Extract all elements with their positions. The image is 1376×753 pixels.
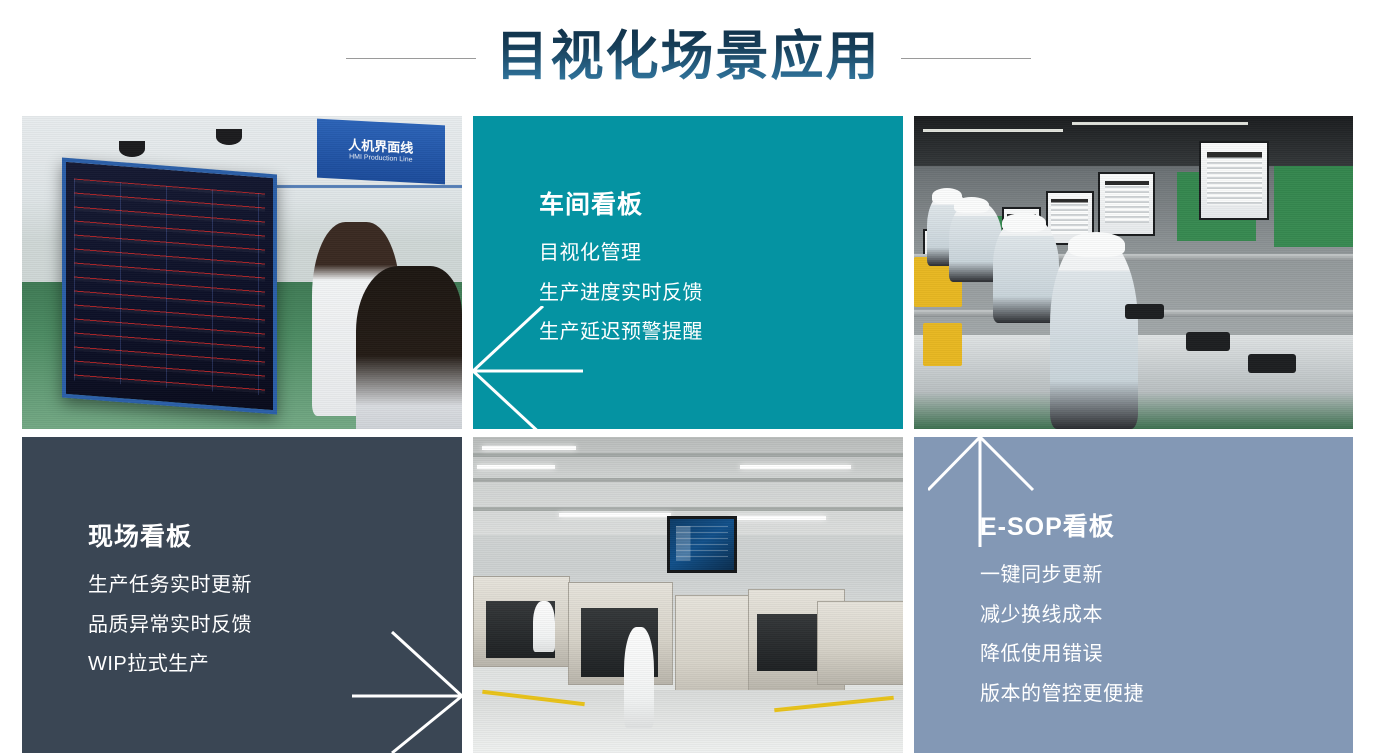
esop-monitor: [1098, 172, 1155, 235]
panel-esop-kanban-line: 降低使用错误: [980, 635, 1144, 675]
panel-site-kanban-heading: 现场看板: [88, 522, 252, 552]
panel-workshop-kanban-line: 目视化管理: [539, 234, 703, 274]
light-tube: [482, 446, 577, 450]
clean-room-operator: [533, 601, 555, 652]
scenario-grid: 人机界面线 HMI Production Line 车间看板 目视化管理 生产进…: [22, 116, 1353, 753]
panel-workshop-kanban-heading: 车间看板: [539, 190, 703, 220]
smt-factory-floor-photo: [473, 437, 903, 753]
operator-observing: [356, 266, 462, 429]
page-header: 目视化场景应用: [0, 0, 1376, 116]
panel-site-kanban: 现场看板 生产任务实时更新 品质异常实时反馈 WIP拉式生产: [22, 437, 462, 753]
hmi-line-banner-en: HMI Production Line: [349, 154, 412, 166]
overhead-rail: [268, 185, 462, 188]
photo-card-smt-floor: [473, 437, 903, 753]
line-worker: [1050, 235, 1138, 429]
product-tray: [1125, 304, 1165, 320]
panel-esop-kanban-line: 减少换线成本: [980, 596, 1144, 636]
factory-dashboard-photo: 人机界面线 HMI Production Line: [22, 116, 462, 429]
panel-site-kanban-line: 生产任务实时更新: [88, 566, 252, 606]
worker-cap: [1068, 232, 1125, 257]
ceiling-beam: [473, 507, 903, 511]
worker-cap: [1002, 213, 1046, 232]
esop-assembly-line-photo: [914, 116, 1353, 429]
panel-workshop-kanban-line: 生产进度实时反馈: [539, 274, 703, 314]
product-tray: [1186, 332, 1230, 351]
panel-workshop-kanban-line: 生产延迟预警提醒: [539, 313, 703, 353]
arrow-right-icon: [342, 622, 462, 753]
panel-workshop-kanban: 车间看板 目视化管理 生产进度实时反馈 生产延迟预警提醒: [473, 116, 903, 429]
parts-bin: [923, 323, 963, 367]
esop-monitor: [1199, 141, 1269, 220]
title-rule-right-icon: [901, 58, 1031, 59]
light-tube: [559, 513, 671, 517]
panel-esop-kanban-body: E-SOP看板 一键同步更新 减少换线成本 降低使用错误 版本的管控更便捷: [980, 512, 1144, 714]
panel-esop-kanban-heading: E-SOP看板: [980, 512, 1144, 542]
clean-room-operator: [624, 627, 654, 728]
hmi-line-banner: 人机界面线 HMI Production Line: [317, 119, 445, 185]
panel-site-kanban-line: WIP拉式生产: [88, 645, 252, 685]
page-title: 目视化场景应用: [494, 24, 883, 93]
photo-card-workshop-dashboard: 人机界面线 HMI Production Line: [22, 116, 462, 429]
ceiling-beam: [473, 453, 903, 457]
line-worker: [993, 216, 1059, 322]
ceiling-beam: [473, 478, 903, 482]
panel-esop-kanban: E-SOP看板 一键同步更新 减少换线成本 降低使用错误 版本的管控更便捷: [914, 437, 1353, 753]
panel-site-kanban-body: 现场看板 生产任务实时更新 品质异常实时反馈 WIP拉式生产: [88, 522, 252, 685]
smt-machine-body: [757, 614, 826, 671]
green-divider-panel: [1274, 166, 1353, 247]
led-board-columns: [74, 179, 264, 395]
light-tube: [1072, 122, 1248, 125]
smt-machine: [817, 601, 903, 685]
led-kanban-board: [62, 158, 277, 415]
panel-site-kanban-line: 品质异常实时反馈: [88, 606, 252, 646]
worker-cap: [954, 197, 989, 213]
light-tube: [731, 516, 826, 520]
panel-esop-kanban-line: 版本的管控更便捷: [980, 675, 1144, 715]
light-tube: [477, 465, 554, 469]
panel-esop-kanban-line: 一键同步更新: [980, 556, 1144, 596]
light-tube: [923, 129, 1063, 132]
ceiling-lamp-icon: [216, 129, 242, 145]
panel-workshop-kanban-body: 车间看板 目视化管理 生产进度实时反馈 生产延迟预警提醒: [539, 190, 703, 353]
production-dashboard-tv: [667, 516, 738, 573]
ceiling-lamp-icon: [119, 141, 145, 157]
light-tube: [740, 465, 852, 469]
title-rule-left-icon: [346, 58, 476, 59]
photo-card-esop-line: [914, 116, 1353, 429]
product-tray: [1248, 354, 1296, 373]
